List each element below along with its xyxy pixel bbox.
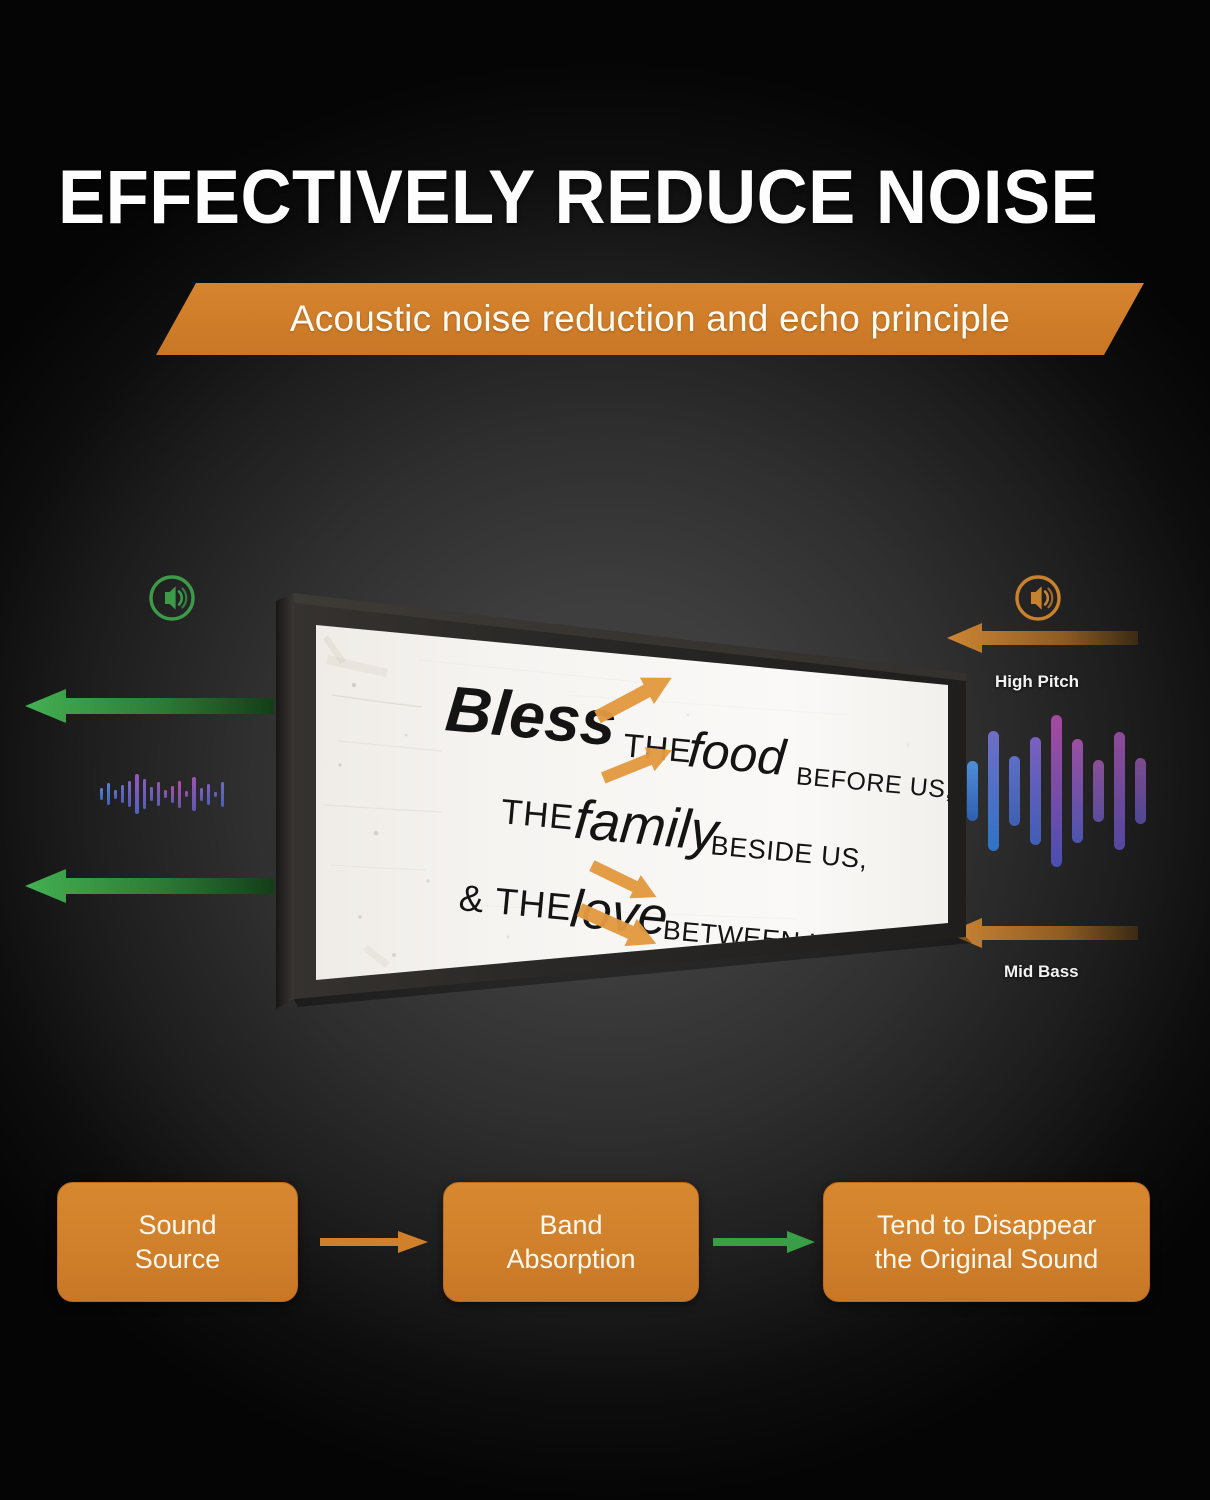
flow-step-line-2: Absorption: [506, 1242, 635, 1276]
wave-bar: [1093, 760, 1104, 822]
subtitle-text: Acoustic noise reduction and echo princi…: [290, 298, 1010, 340]
wave-bar: [221, 782, 224, 807]
wave-bar: [114, 790, 117, 799]
wave-bar: [135, 774, 139, 814]
wave-bar: [150, 787, 153, 801]
wave-bar: [1072, 739, 1083, 843]
high-pitch-label: High Pitch: [995, 672, 1079, 692]
green-arrow-lower: [22, 866, 274, 911]
flow-step-line-1: Band: [506, 1208, 635, 1242]
wave-bar: [192, 777, 196, 811]
wave-bar: [164, 790, 167, 798]
svg-text:THE: THE: [499, 792, 575, 837]
wave-bar: [1135, 758, 1146, 824]
speaker-icon-green: [146, 572, 198, 624]
svg-text:family: family: [572, 788, 724, 863]
wave-bar: [121, 785, 124, 803]
wave-bar: [107, 783, 110, 805]
green-arrow-upper: [22, 686, 274, 731]
framed-wall-sign: Bless THE food BEFORE US, THE family BES…: [268, 565, 980, 1020]
waveform-large-right: [962, 712, 1151, 870]
page-title: EFFECTIVELY REDUCE NOISE: [58, 156, 1098, 240]
flow-arrow-1: [320, 1228, 430, 1261]
wave-bar: [185, 791, 188, 797]
waveform-small-left: [98, 770, 226, 818]
mid-bass-label: Mid Bass: [1004, 962, 1079, 982]
flow-step-line-2: the Original Sound: [875, 1242, 1099, 1276]
wave-bar: [207, 784, 210, 805]
svg-text:Bless: Bless: [443, 672, 620, 759]
wave-bar: [1030, 737, 1041, 845]
flow-step-band-absorption[interactable]: Band Absorption: [443, 1182, 699, 1302]
wave-bar: [178, 781, 181, 808]
flow-step-line-1: Sound: [135, 1208, 221, 1242]
flow-step-line-2: Source: [135, 1242, 221, 1276]
wave-bar: [988, 731, 999, 851]
infographic-root: EFFECTIVELY REDUCE NOISE Acoustic noise …: [0, 0, 1210, 1500]
subtitle-banner: Acoustic noise reduction and echo princi…: [156, 283, 1144, 355]
wave-bar: [1114, 732, 1125, 850]
wave-bar: [200, 788, 203, 801]
wave-bar: [1009, 756, 1020, 826]
wave-bar: [1051, 715, 1062, 867]
process-flow: Sound Source Band Absorption Tend to Dis…: [0, 1176, 1210, 1308]
wave-bar: [214, 792, 217, 797]
svg-text:food: food: [686, 721, 790, 786]
wave-bar: [143, 779, 146, 809]
wave-bar: [171, 786, 174, 803]
flow-arrow-2: [713, 1228, 817, 1261]
speaker-icon-orange: [1012, 572, 1064, 624]
wave-bar: [128, 781, 131, 807]
flow-step-sound-source[interactable]: Sound Source: [57, 1182, 298, 1302]
flow-step-disappear[interactable]: Tend to Disappear the Original Sound: [823, 1182, 1150, 1302]
flow-step-line-1: Tend to Disappear: [875, 1208, 1099, 1242]
wave-bar: [100, 788, 103, 800]
wave-bar: [157, 782, 160, 806]
